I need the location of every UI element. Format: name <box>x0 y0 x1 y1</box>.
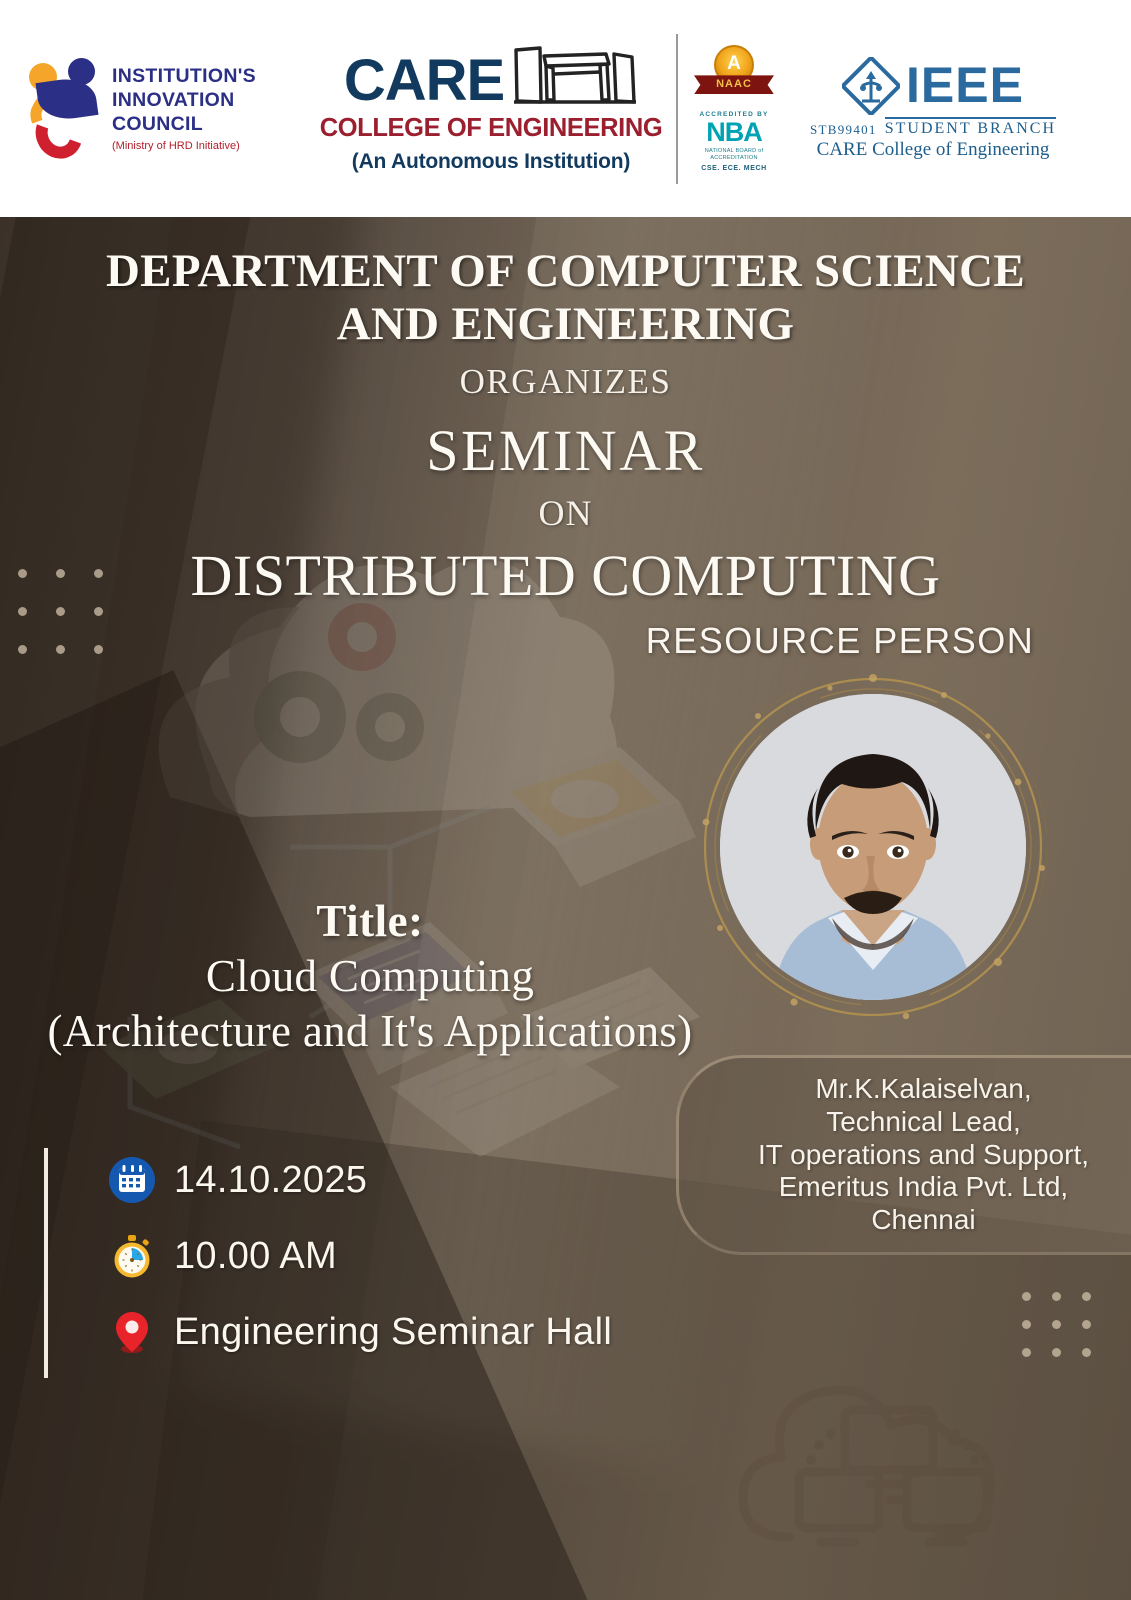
resource-person-label: RESOURCE PERSON <box>600 620 1080 662</box>
clock-icon <box>106 1233 158 1279</box>
speaker-city: Chennai <box>758 1204 1089 1237</box>
iic-subtitle: (Ministry of HRD Initiative) <box>112 140 256 152</box>
seminar-topic: DISTRIBUTED COMPUTING <box>0 542 1131 609</box>
location-pin-icon <box>106 1309 158 1355</box>
nba-wordmark: NBA <box>686 118 782 146</box>
iic-logo: INSTITUTION'S INNOVATION COUNCIL (Minist… <box>28 55 296 163</box>
ieee-wordmark: IEEE <box>906 63 1024 108</box>
accreditation-logos: A NAAC ACCREDITED BY NBA NATIONAL BOARD … <box>686 45 782 171</box>
care-autonomous-line: (An Autonomous Institution) <box>318 150 664 174</box>
ieee-logo: IEEE STB99401 STUDENT BRANCH CARE Colleg… <box>808 57 1058 161</box>
speaker-company: Emeritus India Pvt. Ltd, <box>758 1171 1089 1204</box>
ieee-college-name: CARE College of Engineering <box>808 139 1058 161</box>
speaker-info-box: Mr.K.Kalaiselvan, Technical Lead, IT ope… <box>676 1055 1131 1255</box>
event-details: 14.10.2025 <box>44 1142 684 1370</box>
nba-branches: CSE. ECE. MECH <box>686 165 782 172</box>
event-date-row: 14.10.2025 <box>106 1142 684 1218</box>
nba-logo: ACCREDITED BY NBA NATIONAL BOARD of ACCR… <box>686 111 782 171</box>
poster-content: DEPARTMENT OF COMPUTER SCIENCE AND ENGIN… <box>0 217 1131 1600</box>
iic-line-2: INNOVATION <box>112 89 256 113</box>
title-line-2: (Architecture and It's Applications) <box>0 1005 740 1057</box>
event-type-heading: SEMINAR <box>0 417 1131 484</box>
logo-header: INSTITUTION'S INNOVATION COUNCIL (Minist… <box>0 0 1131 217</box>
naac-badge-icon: A NAAC <box>692 45 776 105</box>
iic-line-1: INSTITUTION'S <box>112 65 256 89</box>
naac-label: NAAC <box>694 75 774 94</box>
event-venue-value: Engineering Seminar Hall <box>174 1311 612 1354</box>
naac-grade: A <box>716 54 752 73</box>
care-college-line: COLLEGE OF ENGINEERING <box>318 114 664 143</box>
speaker-designation: Technical Lead, <box>758 1106 1089 1139</box>
details-accent-rule <box>44 1148 48 1378</box>
resource-person-photo-wrapper <box>698 672 1048 1022</box>
ieee-diamond-icon <box>842 57 900 115</box>
seminar-title-block: Title: Cloud Computing (Architecture and… <box>0 895 740 1057</box>
department-line-1: DEPARTMENT OF COMPUTER SCIENCE <box>0 245 1131 298</box>
department-heading: DEPARTMENT OF COMPUTER SCIENCE AND ENGIN… <box>0 245 1131 350</box>
care-building-icon <box>510 44 638 106</box>
department-line-2: AND ENGINEERING <box>0 298 1131 351</box>
organizes-label: ORGANIZES <box>0 362 1131 402</box>
care-wordmark: CARE <box>344 54 504 107</box>
event-time-value: 10.00 AM <box>174 1235 337 1278</box>
resource-person-avatar <box>720 694 1026 1000</box>
care-logo: CARE COLLEGE OF ENGINEERING (An Autonomo… <box>318 44 664 174</box>
seminar-poster: INSTITUTION'S INNOVATION COUNCIL (Minist… <box>0 0 1131 1600</box>
event-time-row: 10.00 AM <box>106 1218 684 1294</box>
calendar-icon <box>106 1157 158 1203</box>
title-label: Title: <box>0 895 740 947</box>
ieee-stb-number: STB99401 <box>810 122 877 138</box>
iic-line-3: COUNCIL <box>112 113 256 137</box>
speaker-name: Mr.K.Kalaiselvan, <box>758 1073 1089 1106</box>
nba-full-name: NATIONAL BOARD of ACCREDITATION <box>686 148 782 162</box>
on-label: ON <box>0 492 1131 534</box>
iic-emblem-icon <box>28 55 102 163</box>
title-line-1: Cloud Computing <box>0 950 740 1002</box>
header-divider <box>676 34 678 184</box>
event-venue-row: Engineering Seminar Hall <box>106 1294 684 1370</box>
speaker-department: IT operations and Support, <box>758 1139 1089 1172</box>
event-date-value: 14.10.2025 <box>174 1159 367 1202</box>
ieee-student-branch: STUDENT BRANCH <box>885 117 1056 138</box>
